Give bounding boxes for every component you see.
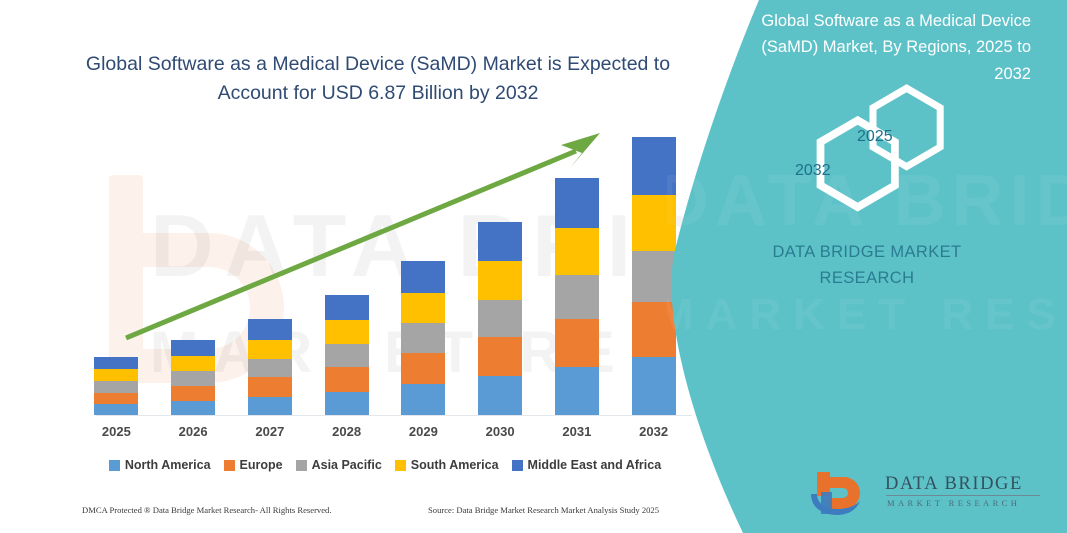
- bar-slot-2028: [308, 120, 385, 415]
- bar-segment: [94, 369, 138, 381]
- bar-segment: [94, 381, 138, 392]
- bar-segment: [171, 386, 215, 401]
- bar-slot-2025: [78, 120, 155, 415]
- x-axis-tick-2027: 2027: [232, 424, 309, 439]
- legend-swatch-icon: [512, 460, 523, 471]
- panel-brand-line1: DATA BRIDGE MARKET: [667, 240, 1067, 266]
- x-axis-tick-2030: 2030: [462, 424, 539, 439]
- bar-segment: [171, 340, 215, 356]
- bar-segment: [555, 178, 599, 228]
- bar-segment: [401, 353, 445, 385]
- bar-segment: [171, 371, 215, 385]
- legend-label: Europe: [240, 458, 283, 472]
- legend-swatch-icon: [395, 460, 406, 471]
- stacked-bar-2026[interactable]: [171, 340, 215, 415]
- bar-segment: [171, 356, 215, 371]
- panel-brand: DATA BRIDGE MARKET RESEARCH: [667, 240, 1067, 291]
- legend-item[interactable]: Middle East and Africa: [512, 458, 662, 472]
- bar-segment: [325, 367, 369, 391]
- legend-label: Asia Pacific: [312, 458, 382, 472]
- x-axis-tick-2031: 2031: [539, 424, 616, 439]
- bar-slot-2027: [232, 120, 309, 415]
- bar-segment: [325, 392, 369, 415]
- legend-swatch-icon: [224, 460, 235, 471]
- bar-segment: [248, 359, 292, 377]
- stacked-bar-2027[interactable]: [248, 319, 292, 415]
- bar-segment: [401, 261, 445, 293]
- brand-logo-mark-icon: [807, 468, 881, 518]
- footer-copyright: DMCA Protected ® Data Bridge Market Rese…: [82, 505, 332, 515]
- bar-segment: [555, 319, 599, 367]
- footer: DMCA Protected ® Data Bridge Market Rese…: [0, 505, 712, 527]
- footer-source: Source: Data Bridge Market Research Mark…: [428, 505, 659, 515]
- bar-segment: [478, 300, 522, 337]
- bar-segment: [94, 357, 138, 369]
- brand-logo: DATA BRIDGE MARKET RESEARCH: [807, 468, 1057, 520]
- legend-label: Middle East and Africa: [528, 458, 662, 472]
- legend-item[interactable]: Europe: [224, 458, 283, 472]
- bar-segment: [401, 384, 445, 415]
- bar-segment: [401, 293, 445, 324]
- x-axis-line: [96, 415, 692, 416]
- legend-item[interactable]: Asia Pacific: [296, 458, 382, 472]
- bar-slot-2026: [155, 120, 232, 415]
- bar-segment: [94, 393, 138, 404]
- bar-segment: [401, 323, 445, 353]
- bar-segment: [248, 377, 292, 396]
- brand-logo-subtitle: MARKET RESEARCH: [887, 498, 1020, 508]
- bar-segment: [555, 367, 599, 415]
- stacked-bar-2028[interactable]: [325, 295, 369, 415]
- bar-segment: [325, 320, 369, 343]
- bar-segment: [478, 337, 522, 377]
- bar-segment: [94, 404, 138, 415]
- bar-slot-2029: [385, 120, 462, 415]
- bar-segment: [248, 319, 292, 339]
- chart-legend: North AmericaEuropeAsia PacificSouth Ame…: [78, 458, 692, 472]
- bar-segment: [248, 340, 292, 359]
- bar-segment: [171, 401, 215, 415]
- chart-bars: [78, 120, 692, 415]
- panel-title: Global Software as a Medical Device (SaM…: [731, 8, 1031, 87]
- bar-segment: [478, 222, 522, 262]
- stacked-bar-2029[interactable]: [401, 261, 445, 415]
- bar-slot-2030: [462, 120, 539, 415]
- bar-segment: [478, 261, 522, 300]
- bar-segment: [325, 295, 369, 320]
- x-axis-tick-2029: 2029: [385, 424, 462, 439]
- bar-segment: [248, 397, 292, 415]
- side-panel: DATA BRIDGE MARKET RESEARCH Global Softw…: [667, 0, 1067, 533]
- legend-item[interactable]: North America: [109, 458, 211, 472]
- bar-segment: [478, 376, 522, 415]
- chart-plot-area: [78, 120, 692, 416]
- legend-swatch-icon: [296, 460, 307, 471]
- bar-segment: [325, 344, 369, 367]
- brand-logo-title: DATA BRIDGE: [885, 474, 1023, 495]
- bar-slot-2031: [539, 120, 616, 415]
- bar-segment: [555, 275, 599, 320]
- x-axis-tick-2026: 2026: [155, 424, 232, 439]
- stacked-bar-2031[interactable]: [555, 178, 599, 415]
- panel-brand-line2: RESEARCH: [667, 266, 1067, 292]
- stacked-bar-2030[interactable]: [478, 222, 522, 415]
- x-axis-tick-2028: 2028: [308, 424, 385, 439]
- x-axis-labels: 20252026202720282029203020312032: [78, 424, 692, 439]
- page-title: Global Software as a Medical Device (SaM…: [78, 50, 678, 108]
- legend-swatch-icon: [109, 460, 120, 471]
- infographic-root: DATA BRIDGE MARKET RESEARCH Global Softw…: [0, 0, 1067, 533]
- x-axis-tick-2025: 2025: [78, 424, 155, 439]
- legend-item[interactable]: South America: [395, 458, 499, 472]
- legend-label: North America: [125, 458, 211, 472]
- bar-segment: [555, 228, 599, 275]
- stacked-bar-2025[interactable]: [94, 357, 138, 415]
- legend-label: South America: [411, 458, 499, 472]
